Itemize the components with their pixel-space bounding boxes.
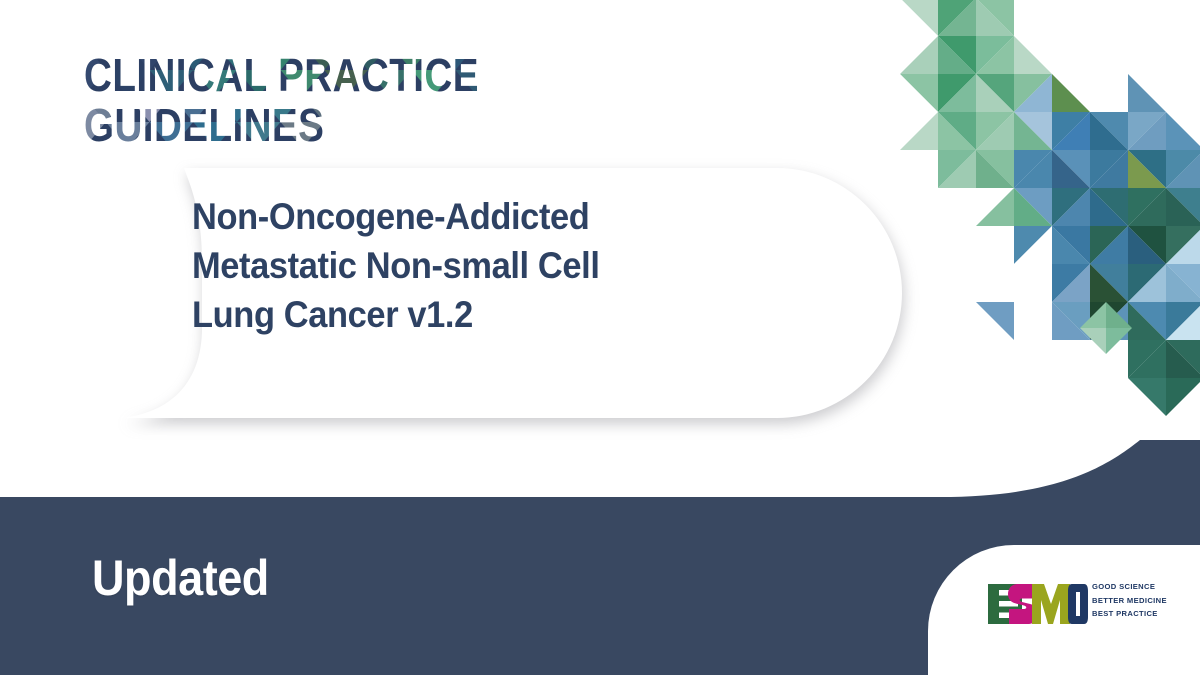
triangle-mosaic-decoration	[880, 0, 1200, 490]
title-line-2: Metastatic Non-small Cell	[192, 241, 787, 290]
updated-status-label: Updated	[92, 553, 269, 603]
tagline-line-2: BETTER MEDICINE	[1092, 594, 1167, 608]
title-line-3: Lung Cancer v1.2	[192, 290, 787, 339]
title-line-1: Non-Oncogene-Addicted	[192, 192, 787, 241]
tagline-line-1: GOOD SCIENCE	[1092, 580, 1167, 594]
esmo-wordmark-icon	[988, 578, 1088, 630]
title-speech-bubble: Non-Oncogene-Addicted Metastatic Non-sma…	[62, 168, 902, 418]
esmo-tagline: GOOD SCIENCE BETTER MEDICINE BEST PRACTI…	[1092, 580, 1167, 621]
clinical-practice-guidelines-heading: CLINICAL PRACTICE GUIDELINES	[84, 44, 604, 164]
esmo-logo-panel: GOOD SCIENCE BETTER MEDICINE BEST PRACTI…	[928, 545, 1200, 675]
guideline-title: Non-Oncogene-Addicted Metastatic Non-sma…	[192, 192, 787, 339]
heading-line-2-text: GUIDELINES	[84, 100, 324, 151]
heading-line-1-text: CLINICAL PRACTICE	[84, 50, 479, 101]
guideline-cover-slide: CLINICAL PRACTICE GUIDELINES Non-Oncogen…	[0, 0, 1200, 675]
tagline-line-3: BEST PRACTICE	[1092, 607, 1167, 621]
esmo-logo: GOOD SCIENCE BETTER MEDICINE BEST PRACTI…	[988, 578, 1184, 630]
